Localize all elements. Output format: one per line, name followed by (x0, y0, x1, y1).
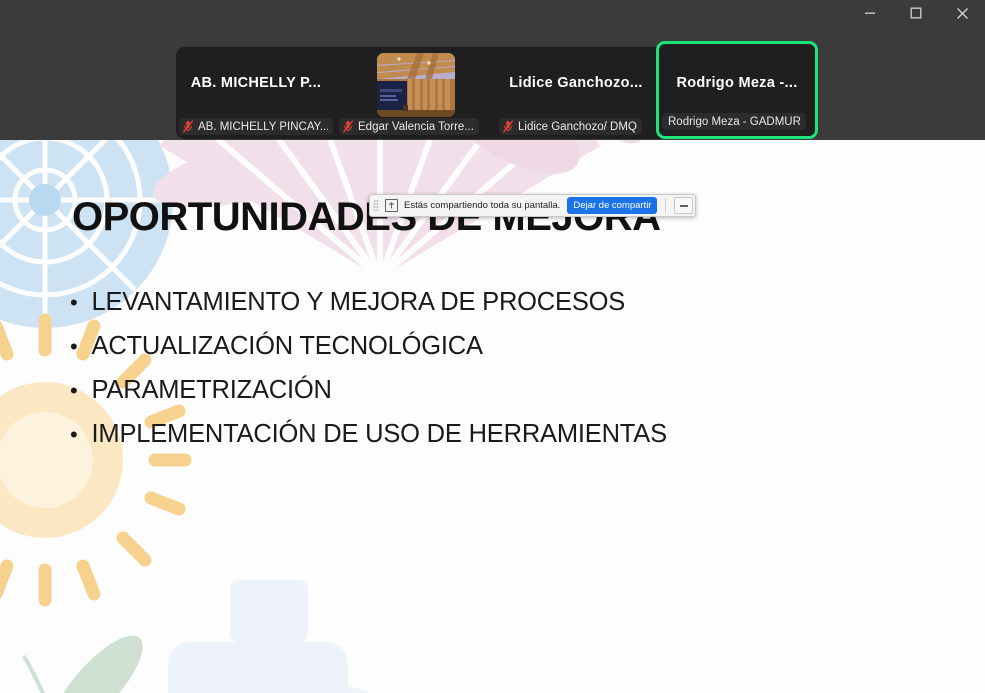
participant-name: Lidice Ganchozo/ DMQ (518, 121, 637, 133)
window-controls (847, 0, 985, 26)
video-feed-image (377, 53, 455, 117)
minimize-icon (864, 7, 876, 19)
drag-handle-icon[interactable] (373, 199, 379, 213)
bullet-text: PARAMETRIZACIÓN (92, 376, 332, 404)
bullet-marker: • (70, 336, 78, 358)
close-button[interactable] (939, 0, 985, 26)
share-status-text: Estás compartiendo toda su pantalla. (404, 200, 561, 211)
bullet-marker: • (70, 380, 78, 402)
mic-muted-icon (182, 120, 194, 133)
mic-muted-icon (502, 120, 514, 133)
participant-name: Edgar Valencia Torre... (358, 121, 474, 133)
participant-name: Rodrigo Meza - GADMUR (668, 116, 801, 128)
participant-tile[interactable]: Edgar Valencia Torre... (336, 47, 496, 139)
bullet-item: • PARAMETRIZACIÓN (70, 376, 830, 404)
slide-bullet-list: • LEVANTAMIENTO Y MEJORA DE PROCESOS • A… (70, 288, 830, 464)
screen-share-icon (385, 199, 398, 212)
participant-name-bar: Rodrigo Meza - GADMUR (662, 113, 806, 130)
participant-name-bar: Lidice Ganchozo/ DMQ (499, 118, 642, 135)
bullet-item: • IMPLEMENTACIÓN DE USO DE HERRAMIENTAS (70, 420, 830, 448)
bullet-text: ACTUALIZACIÓN TECNOLÓGICA (92, 332, 483, 360)
presentation-slide: OPORTUNIDADES DE MEJORA • LEVANTAMIENTO … (0, 140, 985, 693)
participant-name-bar: AB. MICHELLY PINCAY... (179, 118, 333, 135)
bullet-marker: • (70, 424, 78, 446)
participant-display-name: AB. MICHELLY P... (176, 47, 336, 119)
maximize-button[interactable] (893, 0, 939, 26)
bullet-marker: • (70, 292, 78, 314)
participant-tile[interactable]: Lidice Ganchozo... Lidice Ganchozo/ DMQ (496, 47, 656, 139)
bullet-text: IMPLEMENTACIÓN DE USO DE HERRAMIENTAS (92, 420, 667, 448)
minimize-button[interactable] (847, 0, 893, 26)
participant-video-thumbnail (377, 53, 455, 117)
window-chrome: AB. MICHELLY P... AB. MICHELLY PINCAY... (0, 0, 985, 140)
app-root: AB. MICHELLY P... AB. MICHELLY PINCAY... (0, 0, 985, 693)
close-icon (956, 7, 969, 20)
toolbar-divider (665, 198, 666, 213)
bullet-item: • ACTUALIZACIÓN TECNOLÓGICA (70, 332, 830, 360)
participant-display-name: Lidice Ganchozo... (496, 47, 656, 119)
stop-sharing-button[interactable]: Dejar de compartir (567, 197, 657, 214)
share-bar-minimize-button[interactable] (674, 197, 693, 214)
participant-tile[interactable]: AB. MICHELLY P... AB. MICHELLY PINCAY... (176, 47, 336, 139)
minimize-icon (680, 205, 688, 207)
bullet-text: LEVANTAMIENTO Y MEJORA DE PROCESOS (92, 288, 626, 316)
participant-tile-active[interactable]: Rodrigo Meza -... Rodrigo Meza - GADMUR (656, 41, 818, 139)
maximize-icon (910, 7, 922, 19)
participant-display-name: Rodrigo Meza -... (659, 47, 815, 119)
participant-tile-row: AB. MICHELLY P... AB. MICHELLY PINCAY... (176, 47, 816, 139)
participant-name: AB. MICHELLY PINCAY... (198, 121, 328, 133)
participant-strip: AB. MICHELLY P... AB. MICHELLY PINCAY... (176, 47, 816, 139)
mic-muted-icon (342, 120, 354, 133)
green-leaves-icon (0, 600, 180, 693)
participant-name-bar: Edgar Valencia Torre... (339, 118, 479, 135)
bullet-item: • LEVANTAMIENTO Y MEJORA DE PROCESOS (70, 288, 830, 316)
blue-vase-silhouette-icon (130, 580, 450, 693)
screen-share-bar[interactable]: Estás compartiendo toda su pantalla. Dej… (369, 194, 696, 217)
